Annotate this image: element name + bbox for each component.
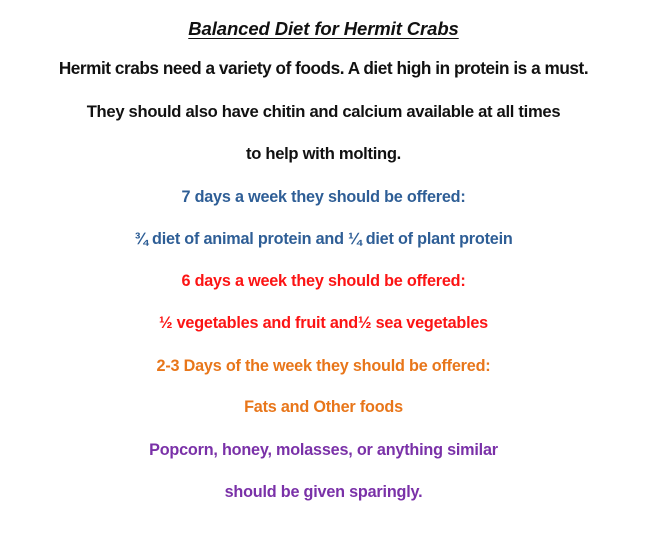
document-page: Balanced Diet for Hermit Crabs Hermit cr… xyxy=(0,0,647,534)
section-heading-two-three-days: 2-3 Days of the week they should be offe… xyxy=(157,357,491,376)
intro-line-2: They should also have chitin and calcium… xyxy=(87,102,561,121)
section-detail-six-days: ½ vegetables and fruit and½ sea vegetabl… xyxy=(159,314,488,333)
section-heading-six-days: 6 days a week they should be offered: xyxy=(181,272,465,291)
intro-line-1: Hermit crabs need a variety of foods. A … xyxy=(59,59,588,79)
section-heading-seven-days: 7 days a week they should be offered: xyxy=(181,188,465,207)
intro-line-3: to help with molting. xyxy=(246,144,401,163)
section-detail-sparingly: should be given sparingly. xyxy=(225,483,423,502)
section-detail-two-three-days: Fats and Other foods xyxy=(244,398,403,417)
page-title: Balanced Diet for Hermit Crabs xyxy=(188,18,458,39)
section-detail-seven-days: ¾ diet of animal protein and ¼ diet of p… xyxy=(134,230,512,249)
section-heading-sparingly: Popcorn, honey, molasses, or anything si… xyxy=(149,441,498,460)
